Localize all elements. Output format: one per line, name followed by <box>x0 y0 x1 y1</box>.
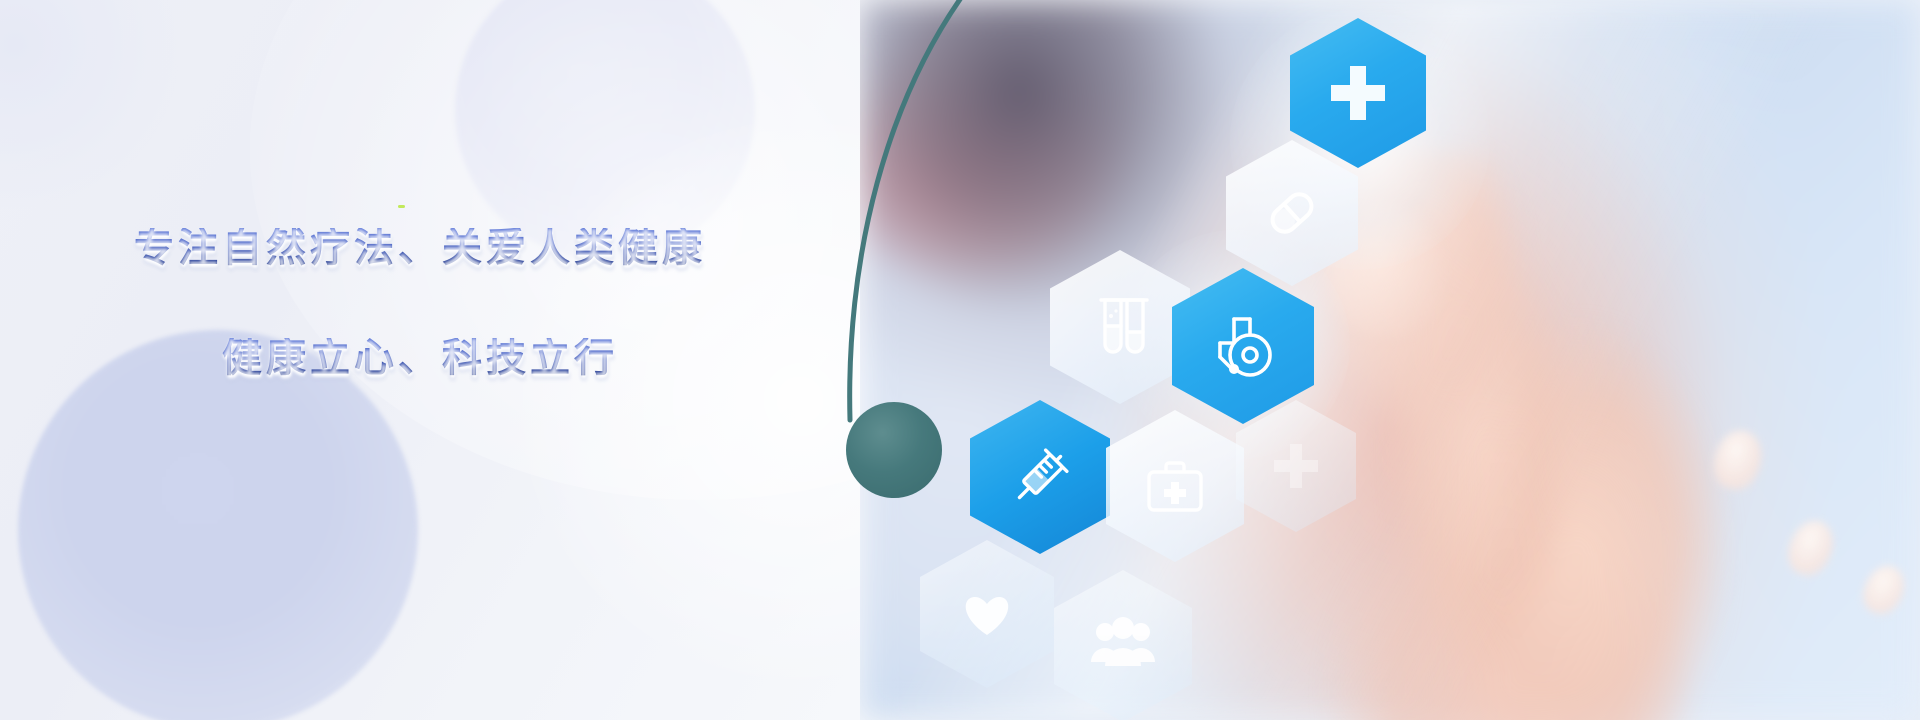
hex-syringe-icon[interactable]: 注射 <box>970 400 1110 554</box>
hexagon-icon-cluster: 医疗 药品 检验 <box>900 0 1620 720</box>
medical-cross-icon <box>1325 60 1391 126</box>
hero-banner: 专注自然疗法、关爱人类健康 健康立心、科技立行 医疗 药品 <box>0 0 1920 720</box>
hex-plus-glow-icon[interactable]: 加号 <box>1236 400 1356 532</box>
people-group-icon <box>1085 608 1161 684</box>
headline-line-2: 健康立心、科技立行 <box>0 338 840 378</box>
syringe-icon <box>1003 440 1077 514</box>
headline-line-1: 专注自然疗法、关爱人类健康 <box>0 228 840 268</box>
hex-heartbeat-icon[interactable]: 心率 <box>920 540 1054 688</box>
plus-glow-icon <box>1268 438 1324 494</box>
hex-test-tubes-icon[interactable]: 检验 <box>1050 250 1190 404</box>
hex-capsule-pill-icon[interactable]: 药品 <box>1226 140 1358 286</box>
hex-medical-cross-icon[interactable]: 医疗 <box>1290 18 1426 168</box>
first-aid-kit-icon <box>1139 450 1211 522</box>
decor-circle-bottom <box>18 330 418 720</box>
heartbeat-icon <box>952 579 1022 649</box>
hex-wheelchair-icon[interactable]: 康复 <box>1172 268 1314 424</box>
decor-circle-far-left <box>0 0 180 210</box>
test-tubes-icon <box>1083 290 1157 364</box>
capsule-pill-icon <box>1256 177 1328 249</box>
wheelchair-icon <box>1204 307 1282 385</box>
headline-block: 专注自然疗法、关爱人类健康 健康立心、科技立行 <box>0 196 840 378</box>
hex-people-group-icon[interactable]: 人群 <box>1054 570 1192 720</box>
hex-first-aid-kit-icon[interactable]: 急救 <box>1106 410 1244 562</box>
